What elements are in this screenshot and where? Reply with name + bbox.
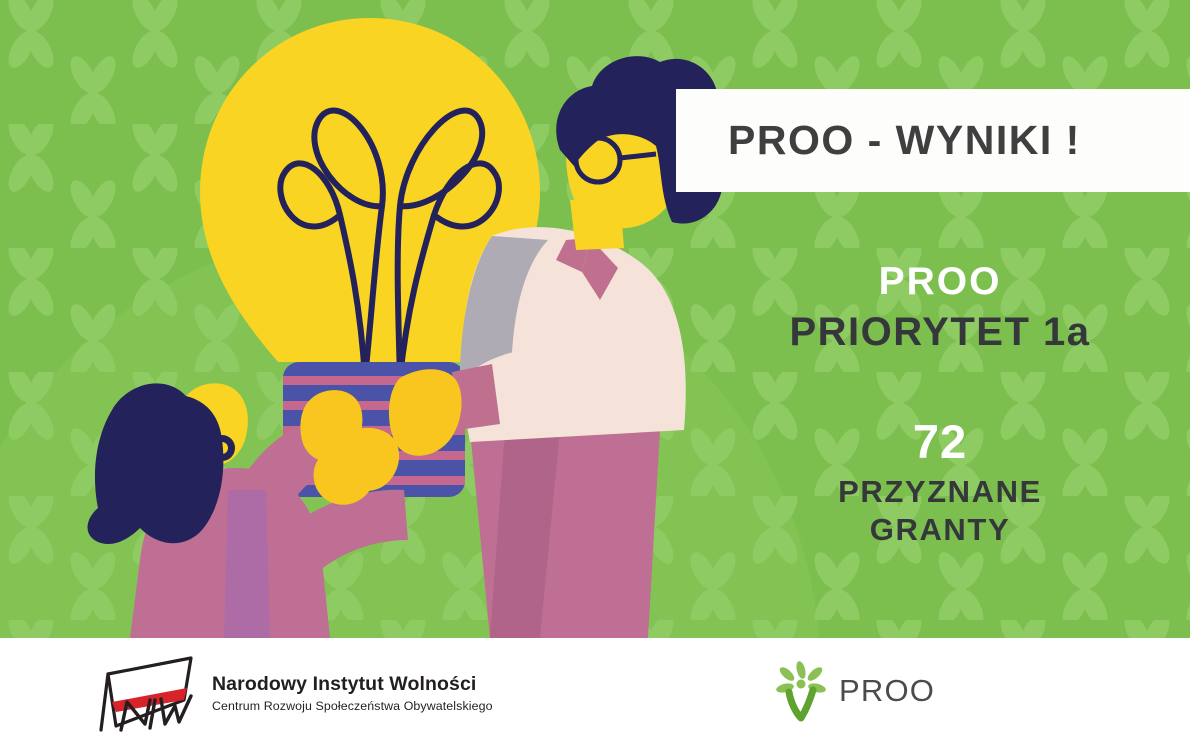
program-info-block: PROO PRIORYTET 1a 72 PRZYZNANE GRANTY — [690, 260, 1190, 548]
poster: PROO - WYNIKI ! PROO PRIORYTET 1a 72 PRZ… — [0, 0, 1190, 750]
title-banner: PROO - WYNIKI ! — [676, 89, 1190, 192]
niw-logo: Narodowy Instytut Wolności Centrum Rozwo… — [95, 650, 493, 736]
proo-flower-logo-icon — [772, 660, 830, 722]
niw-subtitle: Centrum Rozwoju Społeczeństwa Obywatelsk… — [212, 699, 493, 713]
niw-title: Narodowy Instytut Wolności — [212, 673, 493, 696]
footer: Narodowy Instytut Wolności Centrum Rozwo… — [0, 638, 1190, 750]
grants-count: 72 — [690, 416, 1190, 469]
proo-wordmark: PROO — [839, 673, 935, 709]
proo-logo: PROO — [772, 660, 935, 722]
niw-flag-logo-icon — [95, 650, 200, 736]
grants-label-line1: PRZYZNANE — [690, 475, 1190, 510]
woman-with-long-hair — [88, 383, 409, 638]
niw-text-block: Narodowy Instytut Wolności Centrum Rozwo… — [212, 673, 493, 713]
grants-label-line2: GRANTY — [690, 513, 1190, 548]
program-priority: PRIORYTET 1a — [690, 310, 1190, 355]
program-name: PROO — [690, 260, 1190, 304]
page-title: PROO - WYNIKI ! — [728, 117, 1081, 164]
